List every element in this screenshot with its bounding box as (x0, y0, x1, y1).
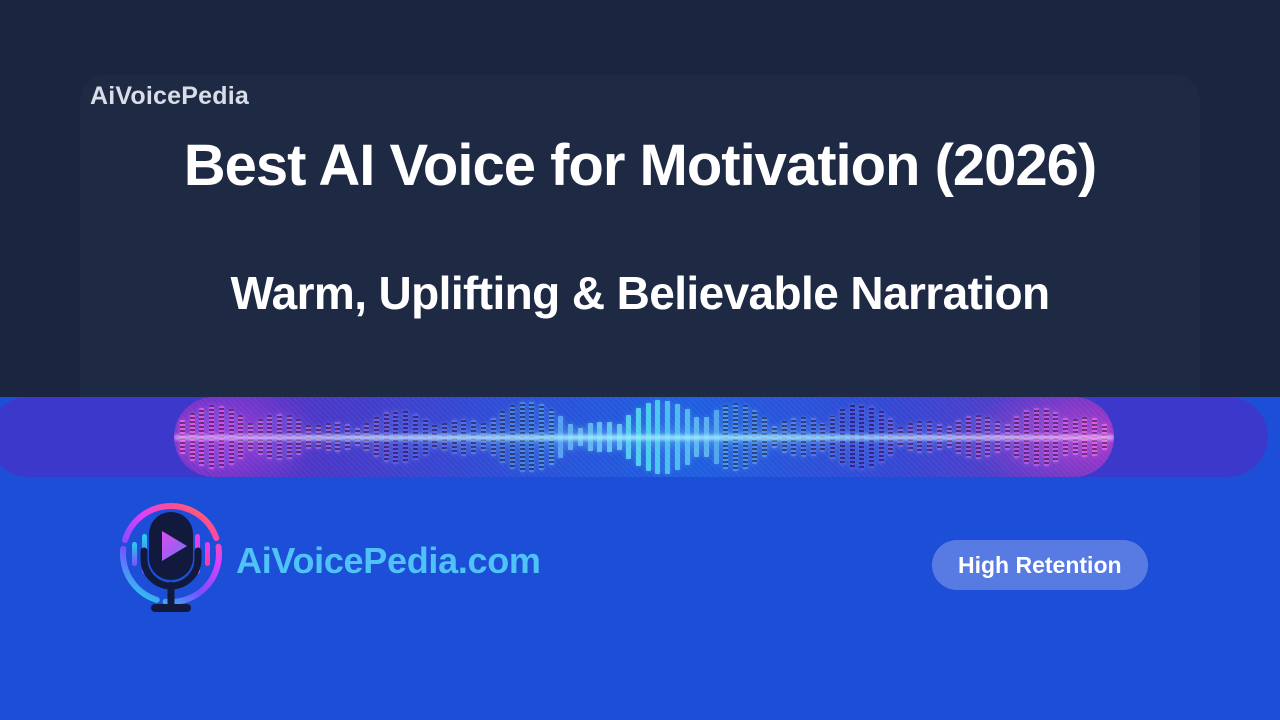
thumbnail-canvas: AiVoicePedia Best AI Voice for Motivatio… (0, 0, 1280, 720)
hero-background (0, 0, 1280, 397)
page-subtitle: Warm, Uplifting & Believable Narration (0, 268, 1280, 319)
waveform-band (0, 397, 1268, 477)
hero-panel (80, 75, 1200, 397)
page-title: Best AI Voice for Motivation (2026) (0, 135, 1280, 198)
brand-website-label: AiVoicePedia.com (236, 540, 541, 582)
status-badge: High Retention (932, 540, 1148, 590)
brand-eyebrow: AiVoicePedia (90, 82, 249, 111)
waveform-centerline (174, 435, 1114, 440)
microphone-play-logo-icon (113, 500, 233, 620)
waveform-art (174, 397, 1114, 477)
